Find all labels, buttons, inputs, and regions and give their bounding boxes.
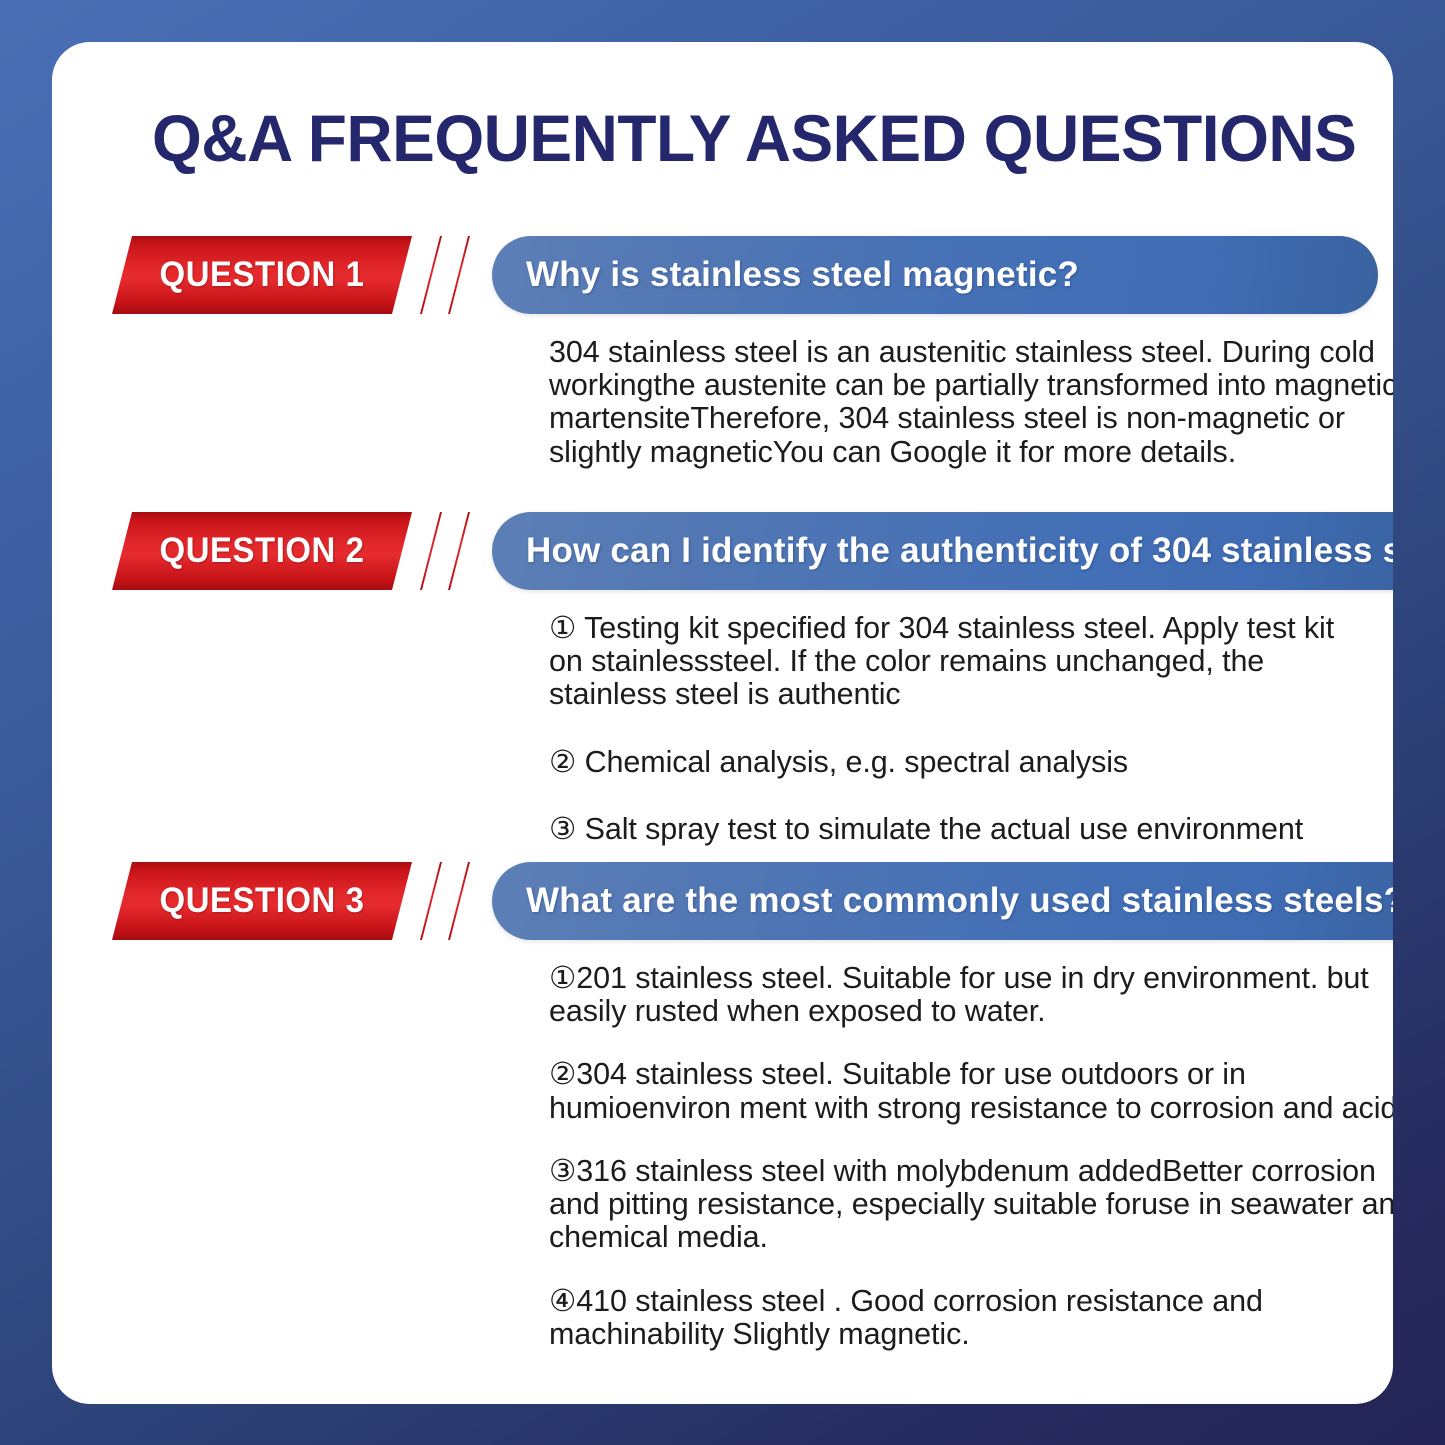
question-tag-2[interactable]: QUESTION 2: [112, 512, 412, 590]
faq-header-2: QUESTION 2 How can I identify the authen…: [52, 512, 1393, 590]
answer-paragraph: ①201 stainless steel. Suitable for use i…: [549, 962, 1393, 1028]
question-pill-2[interactable]: How can I identify the authenticity of 3…: [492, 512, 1393, 590]
question-text: What are the most commonly used stainles…: [492, 881, 1393, 921]
faq-header-3: QUESTION 3 What are the most commonly us…: [52, 862, 1393, 940]
answer-paragraph: ④410 stainless steel . Good corrosion re…: [549, 1285, 1393, 1351]
faq-answer-2: ① Testing kit specified for 304 stainles…: [549, 612, 1349, 846]
faq-item-3: QUESTION 3 What are the most commonly us…: [52, 862, 1393, 940]
answer-paragraph: ① Testing kit specified for 304 stainles…: [549, 612, 1349, 712]
question-pill-3[interactable]: What are the most commonly used stainles…: [492, 862, 1393, 940]
faq-page: Q&A FREQUENTLY ASKED QUESTIONS QUESTION …: [0, 0, 1445, 1445]
slash-divider-icon: [448, 236, 470, 314]
answer-paragraph: 304 stainless steel is an austenitic sta…: [549, 336, 1393, 469]
slash-divider-icon: [420, 236, 442, 314]
question-tag-label: QUESTION 1: [160, 255, 365, 295]
page-title: Q&A FREQUENTLY ASKED QUESTIONS: [152, 100, 1356, 176]
question-tag-1[interactable]: QUESTION 1: [112, 236, 412, 314]
slash-divider-icon: [420, 512, 442, 590]
question-pill-1[interactable]: Why is stainless steel magnetic?: [492, 236, 1378, 314]
answer-paragraph: ③316 stainless steel with molybdenum add…: [549, 1155, 1393, 1255]
answer-paragraph: ②304 stainless steel. Suitable for use o…: [549, 1058, 1393, 1124]
answer-paragraph: ③ Salt spray test to simulate the actual…: [549, 813, 1349, 846]
faq-answer-1: 304 stainless steel is an austenitic sta…: [549, 336, 1393, 469]
answer-paragraph: ② Chemical analysis, e.g. spectral analy…: [549, 746, 1349, 779]
question-tag-label: QUESTION 2: [160, 531, 365, 571]
slash-divider-icon: [448, 862, 470, 940]
faq-card: Q&A FREQUENTLY ASKED QUESTIONS QUESTION …: [52, 42, 1393, 1404]
slash-divider-icon: [448, 512, 470, 590]
faq-item-1: QUESTION 1 Why is stainless steel magnet…: [52, 236, 1393, 314]
faq-item-2: QUESTION 2 How can I identify the authen…: [52, 512, 1393, 590]
faq-answer-3: ①201 stainless steel. Suitable for use i…: [549, 962, 1393, 1351]
question-text: Why is stainless steel magnetic?: [492, 255, 1109, 295]
question-tag-label: QUESTION 3: [160, 881, 365, 921]
faq-header-1: QUESTION 1 Why is stainless steel magnet…: [52, 236, 1393, 314]
question-tag-3[interactable]: QUESTION 3: [112, 862, 412, 940]
question-text: How can I identify the authenticity of 3…: [492, 531, 1393, 571]
slash-divider-icon: [420, 862, 442, 940]
